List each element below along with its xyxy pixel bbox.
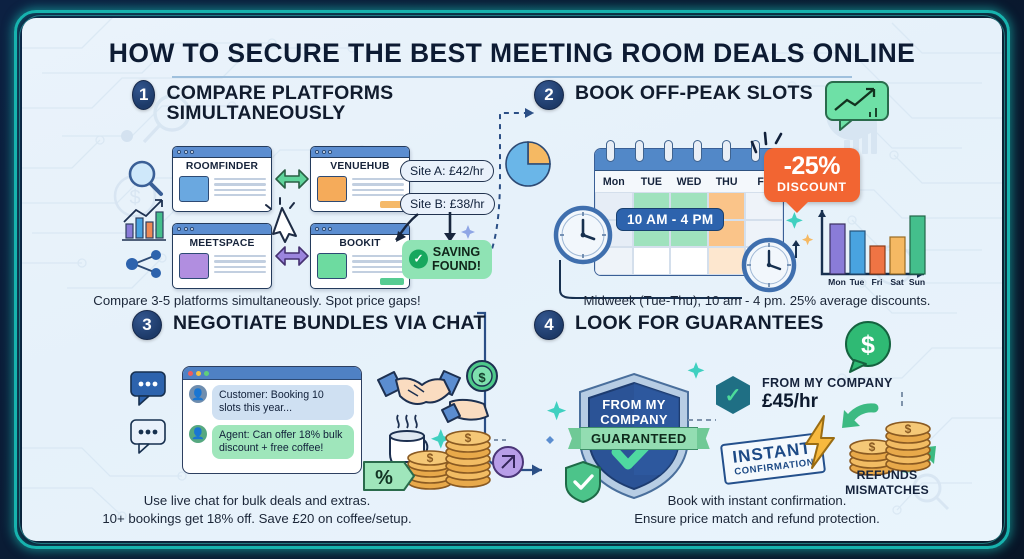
svg-text:Tue: Tue xyxy=(850,277,865,287)
sparkle-lines-icon xyxy=(750,130,790,166)
svg-text:Mon: Mon xyxy=(828,277,846,287)
platform-name: VENUEHUB xyxy=(311,161,409,172)
chat-titlebar xyxy=(183,367,361,380)
discount-mini-bar-chart: MonTueFri SatSun xyxy=(812,204,930,288)
section-3-number: 3 xyxy=(132,310,162,340)
window-body xyxy=(311,172,409,208)
sparkles-decor xyxy=(782,200,818,270)
shield-price-connector xyxy=(686,406,722,426)
section-1-title: COMPARE PLATFORMS SIMULTANEOUSLY xyxy=(166,80,482,123)
platform-thumbnail xyxy=(179,253,209,279)
section-3-caption-line2: 10+ bookings get 18% off. Save £20 on co… xyxy=(102,511,411,526)
platform-name: ROOMFINDER xyxy=(173,161,271,172)
window-titlebar xyxy=(173,147,271,158)
chat-bubble-icon xyxy=(131,372,165,405)
cta-pill xyxy=(380,278,404,285)
section-3-caption: Use live chat for bulk deals and extras.… xyxy=(22,492,492,528)
platform-thumbnail xyxy=(317,253,347,279)
svg-text:$: $ xyxy=(465,431,472,445)
open-hand-icon xyxy=(442,400,488,422)
bar-tue xyxy=(850,231,865,274)
section-4-number: 4 xyxy=(534,310,564,340)
section-1: 1 COMPARE PLATFORMS SIMULTANEOUSLY xyxy=(132,80,482,123)
chat-window[interactable]: 👤 Customer: Booking 10 slots this year..… xyxy=(182,366,362,474)
calendar-day: WED xyxy=(670,176,708,188)
section-4-title: LOOK FOR GUARANTEES xyxy=(575,310,824,333)
shield-line1: FROM MY xyxy=(602,397,665,412)
price-bubble-site-a: Site A: £42/hr xyxy=(400,160,494,182)
window-body xyxy=(311,249,409,285)
saving-found-badge: ✓ SAVING FOUND! xyxy=(402,240,492,279)
swap-arrow-green-icon xyxy=(276,170,308,188)
section-3-caption-line1: Use live chat for bulk deals and extras. xyxy=(144,493,371,508)
guaranteed-ribbon: GUARANTEED xyxy=(580,427,698,450)
dollar-coin-icon: $ xyxy=(467,361,497,391)
chat-message-agent: 👤 Agent: Can offer 18% bulk discount + f… xyxy=(183,420,361,460)
bar-chart-trend-icon xyxy=(122,200,166,240)
platform-thumbnail xyxy=(179,176,209,202)
platform-card-meetspace[interactable]: MEETSPACE xyxy=(172,223,272,289)
swap-arrow-purple-icon xyxy=(276,247,308,265)
shield-line2: COMPANY xyxy=(600,412,668,427)
calendar-rings xyxy=(606,140,760,162)
section-2-caption: Midweek (Tue-Thu), 10 am - 4 pm. 25% ave… xyxy=(522,292,992,310)
discount-label: DISCOUNT xyxy=(777,180,847,194)
calendar-day: Mon xyxy=(595,176,633,188)
svg-text:$: $ xyxy=(905,422,912,436)
section-4-caption-line2: Ensure price match and refund protection… xyxy=(634,511,880,526)
saving-line2: FOUND! xyxy=(432,259,481,273)
platform-card-venuehub[interactable]: VENUEHUB xyxy=(310,146,410,212)
window-body xyxy=(173,249,271,279)
calendar-day: THU xyxy=(708,176,746,188)
svg-text:$: $ xyxy=(427,451,434,465)
section-3: 3 NEGOTIATE BUNDLES VIA CHAT xyxy=(132,310,492,340)
text-lines xyxy=(352,176,404,208)
platform-name: MEETSPACE xyxy=(173,238,271,249)
sparkles-decor-4 xyxy=(540,388,576,458)
window-titlebar xyxy=(311,147,409,158)
dollar-chat-icon: $ xyxy=(840,318,896,370)
saving-line1: SAVING xyxy=(433,245,480,259)
text-lines xyxy=(214,176,266,202)
avatar: 👤 xyxy=(189,385,207,403)
section-4-caption: Book with instant confirmation. Ensure p… xyxy=(522,492,992,528)
message-text: Agent: Can offer 18% bulk discount + fre… xyxy=(212,425,354,460)
svg-text:Fri: Fri xyxy=(872,277,883,287)
magnifier-icon xyxy=(130,162,161,194)
section-1-side-icons xyxy=(118,156,170,276)
chat-bubble-icon xyxy=(131,420,165,453)
calendar-day-row: Mon TUE WED THU Fri xyxy=(595,171,783,192)
infographic-canvas: $ $ HOW TO SECURE THE BEST MEETING ROOM … xyxy=(0,0,1024,559)
bar-fri xyxy=(870,246,885,274)
svg-text:$: $ xyxy=(478,370,486,385)
svg-text:$: $ xyxy=(861,331,875,359)
section-1-number: 1 xyxy=(132,80,155,110)
section-1-caption: Compare 3-5 platforms simultaneously. Sp… xyxy=(22,292,492,310)
bar-sat xyxy=(890,237,905,274)
section-1-header: 1 COMPARE PLATFORMS SIMULTANEOUSLY xyxy=(132,80,482,123)
chat-side-icons xyxy=(127,368,175,458)
svg-text:%: % xyxy=(375,467,393,489)
calendar-day: TUE xyxy=(633,176,671,188)
text-lines xyxy=(352,253,404,285)
window-titlebar xyxy=(173,224,271,235)
sparkle-icon xyxy=(682,358,712,388)
time-slot-label: 10 AM - 4 PM xyxy=(616,208,724,231)
trend-chat-icon xyxy=(822,80,904,132)
text-lines xyxy=(214,253,266,279)
savings-icon xyxy=(493,440,523,477)
svg-text:Sun: Sun xyxy=(909,277,925,287)
bar-mon xyxy=(830,224,845,274)
svg-text:$: $ xyxy=(869,440,876,454)
platform-card-roomfinder[interactable]: ROOMFINDER xyxy=(172,146,272,212)
shield-company-text: FROM MY COMPANY xyxy=(582,398,686,427)
chat-message-customer: 👤 Customer: Booking 10 slots this year..… xyxy=(183,380,361,420)
bar-sun xyxy=(910,216,925,274)
section-2-title: BOOK OFF-PEAK SLOTS xyxy=(575,80,813,103)
section-3-header: 3 NEGOTIATE BUNDLES VIA CHAT xyxy=(132,310,492,340)
avatar: 👤 xyxy=(189,425,207,443)
share-nodes-icon xyxy=(126,250,161,278)
svg-text:Sat: Sat xyxy=(890,277,904,287)
message-text: Customer: Booking 10 slots this year... xyxy=(212,385,354,420)
cursor-icon xyxy=(264,198,310,244)
section-3-title: NEGOTIATE BUNDLES VIA CHAT xyxy=(173,310,486,333)
pie-chart-icon xyxy=(504,140,550,190)
refund-line1: REFUNDS xyxy=(857,468,918,482)
section-2-number: 2 xyxy=(534,80,564,110)
check-circle-icon: ✓ xyxy=(409,250,428,269)
content-area: $ $ HOW TO SECURE THE BEST MEETING ROOM … xyxy=(22,18,1002,541)
window-body xyxy=(173,172,271,202)
section-4-caption-line1: Book with instant confirmation. xyxy=(668,493,847,508)
platform-thumbnail xyxy=(317,176,347,202)
handshake-icon xyxy=(378,371,460,404)
